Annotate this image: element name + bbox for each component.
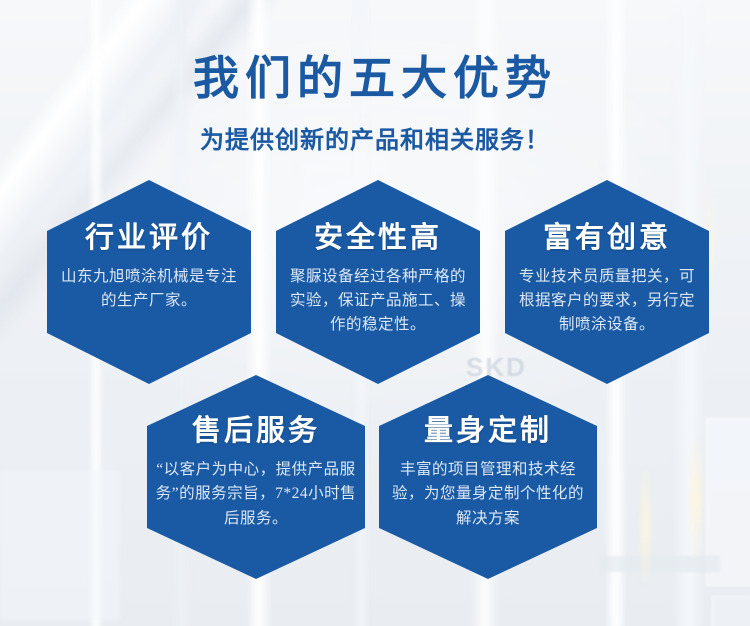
advantage-title: 行业评价: [85, 214, 213, 256]
background-watermark: SKD: [466, 352, 527, 383]
advantage-title: 量身定制: [424, 407, 552, 449]
page-subtitle: 为提供创新的产品和相关服务！: [0, 120, 750, 155]
advantage-body: 丰富的项目管理和技术经验，为您量身定制个性化的解决方案: [379, 458, 597, 531]
advantage-body: 山东九旭喷涂机械是专注的生产厂家。: [47, 265, 251, 313]
page-title: 我们的五大优势: [0, 42, 750, 108]
advantage-title: 售后服务: [192, 407, 320, 449]
advantage-title: 安全性高: [314, 214, 442, 256]
advantage-body: “以客户为中心，提供产品服务”的服务宗旨，7*24小时售后服务。: [147, 458, 365, 531]
banner-header: 我们的五大优势 为提供创新的产品和相关服务！: [0, 0, 750, 155]
advantage-body: 聚脲设备经过各种严格的实验，保证产品施工、操作的稳定性。: [276, 265, 480, 337]
advantage-body: 专业技术员质量把关，可根据客户的要求，另行定制喷涂设备。: [505, 265, 709, 337]
advantages-banner: SKD 我们的五大优势 为提供创新的产品和相关服务！ 行业评价 山东九旭喷涂机械…: [0, 0, 750, 626]
advantage-title: 富有创意: [543, 214, 671, 256]
